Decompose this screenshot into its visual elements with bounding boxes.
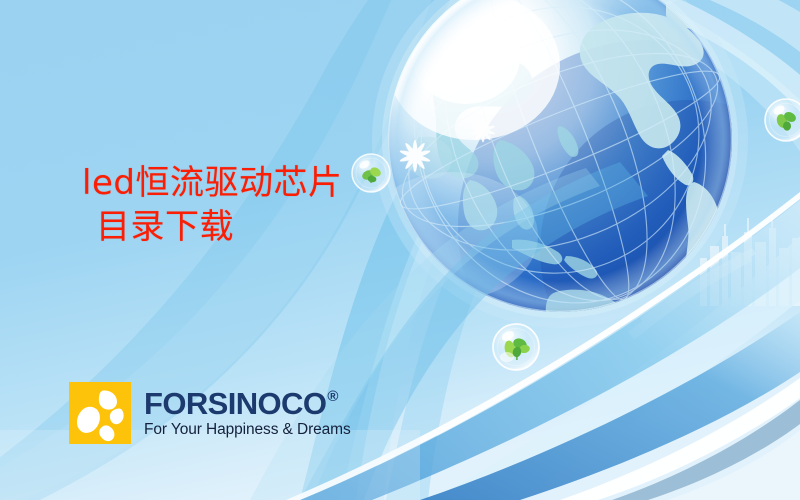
forsinoco-logo-lockup: FORSINOCO® For Your Happiness & Dreams <box>69 382 351 444</box>
brand-name-text: FORSINOCO <box>144 388 326 419</box>
brand-name: FORSINOCO® <box>144 388 351 419</box>
brand-tagline: For Your Happiness & Dreams <box>144 422 351 438</box>
catalog-cover: led恒流驱动芯片 目录下载 FORSINOCO® <box>0 0 800 500</box>
registered-trademark-icon: ® <box>327 389 337 404</box>
forsinoco-pinwheel-mark-icon <box>69 382 131 444</box>
logo-wordmark: FORSINOCO® For Your Happiness & Dreams <box>144 388 351 438</box>
